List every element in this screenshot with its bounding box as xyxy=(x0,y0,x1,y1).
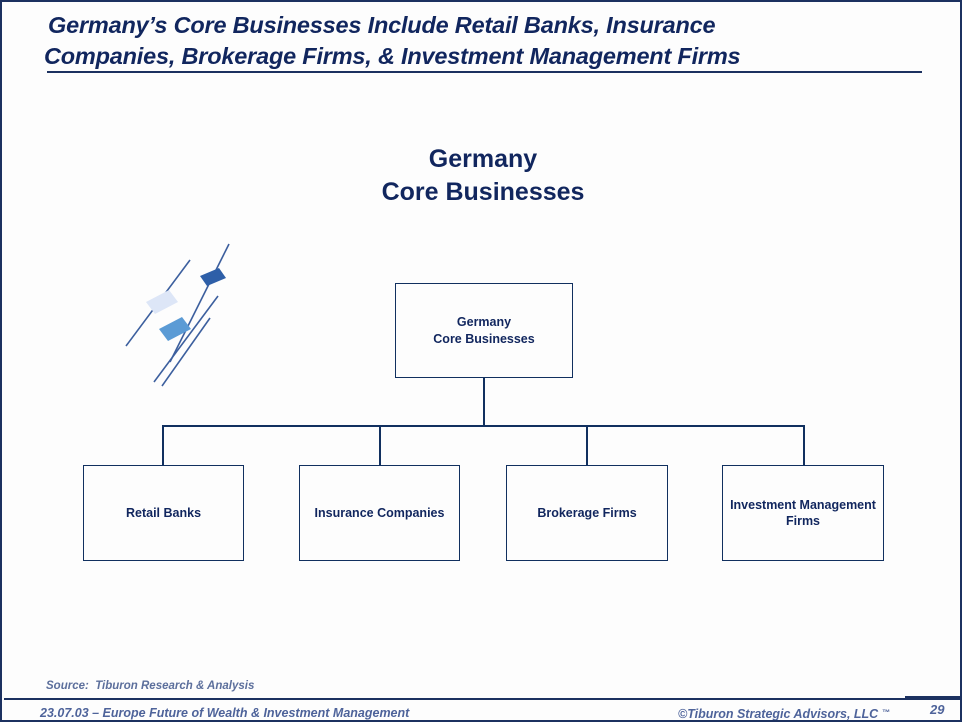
chart-heading-line-2: Core Businesses xyxy=(2,176,962,209)
slide-title-line-2: Companies, Brokerage Firms, & Investment… xyxy=(48,41,922,72)
connector-horizontal-bus xyxy=(162,425,805,427)
footer-copyright: ©Tiburon Strategic Advisors, LLC ™ xyxy=(678,707,890,721)
org-node-brokerage-firms: Brokerage Firms xyxy=(506,465,668,561)
source-note: Source: Tiburon Research & Analysis xyxy=(46,680,254,692)
chart-heading: Germany Core Businesses xyxy=(2,143,962,209)
connector-drop-investment-management-firms xyxy=(803,425,805,466)
connector-drop-brokerage-firms xyxy=(586,425,588,466)
footer-copyright-text: ©Tiburon Strategic Advisors, LLC xyxy=(678,707,882,721)
org-node-investment-management-firms-label: Investment Management Firms xyxy=(730,497,876,529)
org-node-retail-banks: Retail Banks xyxy=(83,465,244,561)
decorative-logo-mark xyxy=(114,234,244,394)
org-node-root-label: Germany Core Businesses xyxy=(433,314,534,348)
slide-canvas: Germany’s Core Businesses Include Retail… xyxy=(0,0,962,722)
org-node-root: Germany Core Businesses xyxy=(395,283,573,378)
org-node-brokerage-firms-label: Brokerage Firms xyxy=(537,505,636,521)
slide-title: Germany’s Core Businesses Include Retail… xyxy=(48,10,922,72)
page-number: 29 xyxy=(930,702,944,717)
org-node-retail-banks-label: Retail Banks xyxy=(126,505,201,521)
footer-date-title: 23.07.03 – Europe Future of Wealth & Inv… xyxy=(40,706,409,720)
title-underline xyxy=(47,71,922,73)
connector-root-drop xyxy=(483,378,485,426)
slide-title-line-1: Germany’s Core Businesses Include Retail… xyxy=(48,10,922,41)
page-number-rule xyxy=(905,696,962,698)
connector-drop-retail-banks xyxy=(162,425,164,466)
connector-drop-insurance-companies xyxy=(379,425,381,466)
trademark-icon: ™ xyxy=(882,708,890,717)
org-node-insurance-companies: Insurance Companies xyxy=(299,465,460,561)
org-node-investment-management-firms: Investment Management Firms xyxy=(722,465,884,561)
chart-heading-line-1: Germany xyxy=(2,143,962,176)
org-node-insurance-companies-label: Insurance Companies xyxy=(315,505,445,521)
footer-divider xyxy=(4,698,962,700)
